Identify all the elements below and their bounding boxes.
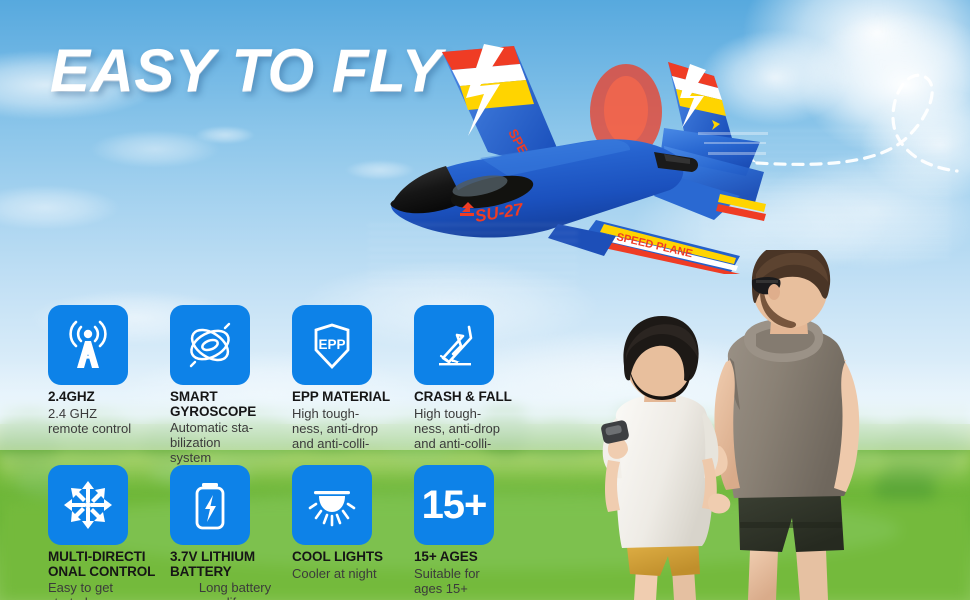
feature-title: CRASH & FALL xyxy=(414,390,544,405)
promo-banner: EASY TO FLY xyxy=(0,0,970,600)
feature-title: COOL LIGHTS xyxy=(292,550,422,565)
feature-2-4ghz[interactable]: 2.4GHZ 2.4 GHZremote control xyxy=(48,305,178,436)
feature-title: 3.7V LITHIUMBATTERY xyxy=(170,550,300,579)
feature-15-plus-ages[interactable]: 15+ 15+ AGES Suitable forages 15+ xyxy=(414,465,544,596)
feature-title: MULTI-DIRECTIONAL CONTROL xyxy=(48,550,178,579)
feature-title: 2.4GHZ xyxy=(48,390,178,405)
feature-desc: Easy to getstarted xyxy=(48,580,178,600)
gyroscope-icon xyxy=(170,305,250,385)
feature-epp-material[interactable]: EPP EPP MATERIAL High tough-ness, anti-d… xyxy=(292,305,422,451)
feature-title: SMARTGYROSCOPE xyxy=(170,390,300,419)
feature-cool-lights[interactable]: COOL LIGHTS Cooler at night xyxy=(292,465,422,581)
feature-crash-fall[interactable]: CRASH & FALL High tough-ness, anti-dropa… xyxy=(414,305,544,451)
feature-desc: 2.4 GHZremote control xyxy=(48,406,178,436)
multi-direction-arrows-icon xyxy=(48,465,128,545)
feature-desc: Suitable forages 15+ xyxy=(414,566,544,596)
age-15-plus-icon: 15+ xyxy=(414,465,494,545)
feature-grid: 2.4GHZ 2.4 GHZremote control SMARTGYROSC… xyxy=(0,0,970,600)
feature-smart-gyroscope[interactable]: SMARTGYROSCOPE Automatic sta-bilizations… xyxy=(170,305,300,465)
svg-text:EPP: EPP xyxy=(318,337,345,352)
feature-desc: High tough-ness, anti-dropand anti-colli… xyxy=(414,406,544,451)
signal-tower-icon xyxy=(48,305,128,385)
feature-lithium-battery[interactable]: 3.7V LITHIUMBATTERY Long batterylife xyxy=(170,465,300,600)
feature-title: 15+ AGES xyxy=(414,550,544,565)
feature-multi-directional-control[interactable]: MULTI-DIRECTIONAL CONTROL Easy to getsta… xyxy=(48,465,178,600)
age-badge-text: 15+ xyxy=(422,485,487,525)
feature-desc: Cooler at night xyxy=(292,566,422,581)
crash-fall-icon xyxy=(414,305,494,385)
feature-desc: Long batterylife xyxy=(170,580,300,600)
cool-light-icon xyxy=(292,465,372,545)
battery-bolt-icon xyxy=(170,465,250,545)
feature-title: EPP MATERIAL xyxy=(292,390,422,405)
feature-desc: Automatic sta-bilizationsystem xyxy=(170,420,300,465)
epp-shield-icon: EPP xyxy=(292,305,372,385)
feature-desc: High tough-ness, anti-dropand anti-colli… xyxy=(292,406,422,451)
